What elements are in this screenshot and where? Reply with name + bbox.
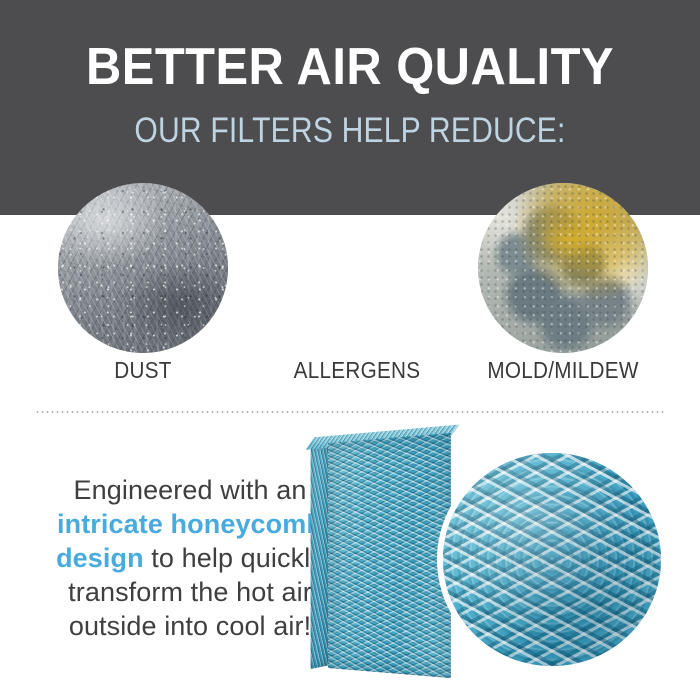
honeycomb-magnified-detail-icon (443, 453, 661, 666)
mold-photo-circle (478, 183, 648, 353)
contaminant-item-dust: DUST (58, 183, 228, 353)
contaminant-circle-row: DUST (0, 183, 700, 383)
pad-front-face (328, 433, 451, 678)
contaminant-label-dust: DUST (49, 357, 238, 383)
page-subtitle: OUR FILTERS HELP REDUCE: (49, 112, 651, 150)
contaminant-label-allergens: ALLERGENS (263, 357, 452, 383)
feature-copy: Engineered with an intricate honeycomb d… (40, 473, 340, 643)
magnified-shading-overlay (443, 453, 661, 666)
feature-copy-part1: Engineered with an (74, 475, 307, 505)
honeycomb-pad-artwork (320, 435, 680, 680)
dust-texture-icon (58, 183, 228, 353)
dust-photo-circle (58, 183, 228, 353)
contaminant-item-mold: MOLD/MILDEW (478, 183, 648, 353)
honeycomb-pad-block-icon (328, 433, 451, 678)
contaminant-label-mold: MOLD/MILDEW (469, 357, 658, 383)
dotted-divider (35, 411, 665, 413)
infographic-poster: BETTER AIR QUALITY OUR FILTERS HELP REDU… (0, 0, 700, 700)
page-title: BETTER AIR QUALITY (21, 40, 679, 94)
mold-texture-icon (478, 183, 648, 353)
